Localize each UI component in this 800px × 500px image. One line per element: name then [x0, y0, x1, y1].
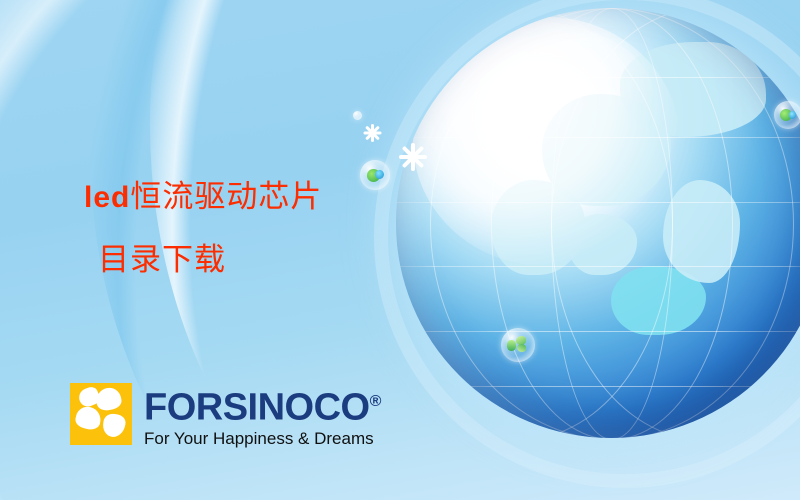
- logo-wordmark: FORSINOCO®: [144, 383, 381, 427]
- headline-line-1: led恒流驱动芯片: [84, 166, 424, 229]
- headline: led恒流驱动芯片 目录下载: [84, 166, 424, 291]
- headline-line-1-cn: 恒流驱动芯片: [130, 179, 322, 215]
- headline-line-2: 目录下载: [84, 229, 424, 291]
- globe-sphere: [396, 8, 800, 438]
- promo-banner: led恒流驱动芯片 目录下载 FORSINOCO® For Your Happi…: [0, 0, 800, 500]
- globe-rim-shading: [396, 8, 800, 438]
- earth-globe: [396, 8, 800, 438]
- bubble-pinwheel: [501, 328, 535, 362]
- logo-text-block: FORSINOCO® For Your Happiness & Dreams: [144, 383, 381, 449]
- forsinoco-pinwheel-mark: [70, 383, 132, 445]
- logo-tagline: For Your Happiness & Dreams: [144, 429, 381, 449]
- headline-line-1-latin: led: [84, 181, 130, 214]
- bubble-tiny: [353, 111, 362, 120]
- registered-trademark-icon: ®: [370, 393, 381, 410]
- bubble-top-right: [774, 101, 800, 129]
- company-logo: FORSINOCO® For Your Happiness & Dreams: [70, 383, 381, 449]
- logo-wordmark-text: FORSINOCO: [144, 387, 370, 429]
- white-flower-small: [363, 124, 382, 143]
